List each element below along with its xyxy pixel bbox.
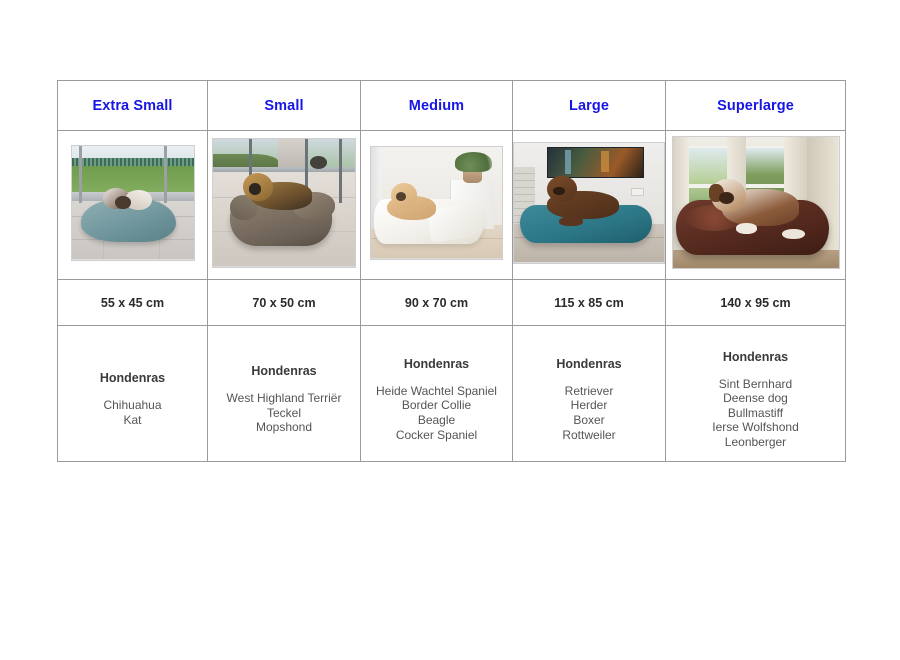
breed-list: Heide Wachtel SpanielBorder CollieBeagle… xyxy=(361,384,512,442)
header-cell-large: Large xyxy=(513,81,666,131)
dimensions-label: 140 x 95 cm xyxy=(720,296,790,310)
dimensions-label: 115 x 85 cm xyxy=(554,296,624,310)
page-canvas: Extra Small Small Medium Large Superlarg… xyxy=(0,0,900,660)
dimensions-cell-medium: 90 x 70 cm xyxy=(361,280,513,326)
breed-item: Rottweiler xyxy=(513,428,665,443)
size-header-label: Superlarge xyxy=(717,98,794,114)
product-photo-large xyxy=(513,142,665,264)
dimensions-cell-small: 70 x 50 cm xyxy=(208,280,361,326)
dog-bed-size-table: Extra Small Small Medium Large Superlarg… xyxy=(57,80,846,462)
breed-item: Cocker Spaniel xyxy=(361,428,512,443)
header-cell-superlarge: Superlarge xyxy=(666,81,846,131)
breed-item: Kat xyxy=(58,413,207,428)
dimensions-label: 90 x 70 cm xyxy=(405,296,468,310)
table-dimensions-row: 55 x 45 cm 70 x 50 cm 90 x 70 cm 115 x 8… xyxy=(58,280,846,326)
photo-cell-small xyxy=(208,131,361,280)
size-header-label: Medium xyxy=(409,98,464,114)
table-header-row: Extra Small Small Medium Large Superlarg… xyxy=(58,81,846,131)
photo-cell-superlarge xyxy=(666,131,846,280)
breed-title: Hondenras xyxy=(361,357,512,371)
header-cell-small: Small xyxy=(208,81,361,131)
breed-item: Bullmastiff xyxy=(666,406,845,421)
table-photo-row xyxy=(58,131,846,280)
breeds-cell-small: Hondenras West Highland TerriërTeckelMop… xyxy=(208,326,361,462)
breed-list: RetrieverHerderBoxerRottweiler xyxy=(513,384,665,442)
breed-item: Chihuahua xyxy=(58,398,207,413)
photo-cell-extra-small xyxy=(58,131,208,280)
photo-cell-medium xyxy=(361,131,513,280)
breed-list: ChihuahuaKat xyxy=(58,398,207,427)
dimensions-cell-large: 115 x 85 cm xyxy=(513,280,666,326)
breed-title: Hondenras xyxy=(513,357,665,371)
breed-item: Retriever xyxy=(513,384,665,399)
dimensions-label: 55 x 45 cm xyxy=(101,296,164,310)
breed-item: Boxer xyxy=(513,413,665,428)
breed-item: Teckel xyxy=(208,406,360,421)
breeds-cell-extra-small: Hondenras ChihuahuaKat xyxy=(58,326,208,462)
breed-title: Hondenras xyxy=(208,364,360,378)
breed-item: Ierse Wolfshond xyxy=(666,420,845,435)
dimensions-cell-extra-small: 55 x 45 cm xyxy=(58,280,208,326)
breed-item: Beagle xyxy=(361,413,512,428)
product-photo-extra-small xyxy=(71,145,195,261)
table-breeds-row: Hondenras ChihuahuaKat Hondenras West Hi… xyxy=(58,326,846,462)
photo-cell-large xyxy=(513,131,666,280)
size-header-label: Small xyxy=(264,98,303,114)
breeds-cell-superlarge: Hondenras Sint BernhardDeense dogBullmas… xyxy=(666,326,846,462)
size-header-label: Extra Small xyxy=(92,98,172,114)
breed-item: Border Collie xyxy=(361,398,512,413)
breed-item: Mopshond xyxy=(208,420,360,435)
breed-item: Leonberger xyxy=(666,435,845,450)
breed-list: Sint BernhardDeense dogBullmastiffIerse … xyxy=(666,377,845,450)
breed-item: Deense dog xyxy=(666,391,845,406)
breeds-cell-large: Hondenras RetrieverHerderBoxerRottweiler xyxy=(513,326,666,462)
breed-title: Hondenras xyxy=(666,350,845,364)
product-photo-medium xyxy=(370,146,503,260)
breeds-cell-medium: Hondenras Heide Wachtel SpanielBorder Co… xyxy=(361,326,513,462)
dimensions-label: 70 x 50 cm xyxy=(252,296,315,310)
size-header-label: Large xyxy=(569,98,609,114)
dimensions-cell-superlarge: 140 x 95 cm xyxy=(666,280,846,326)
breed-item: Herder xyxy=(513,398,665,413)
header-cell-extra-small: Extra Small xyxy=(58,81,208,131)
breed-title: Hondenras xyxy=(58,371,207,385)
breed-item: Sint Bernhard xyxy=(666,377,845,392)
product-photo-superlarge xyxy=(672,136,840,269)
breed-item: Heide Wachtel Spaniel xyxy=(361,384,512,399)
product-photo-small xyxy=(212,138,356,268)
header-cell-medium: Medium xyxy=(361,81,513,131)
breed-item: West Highland Terriër xyxy=(208,391,360,406)
breed-list: West Highland TerriërTeckelMopshond xyxy=(208,391,360,435)
